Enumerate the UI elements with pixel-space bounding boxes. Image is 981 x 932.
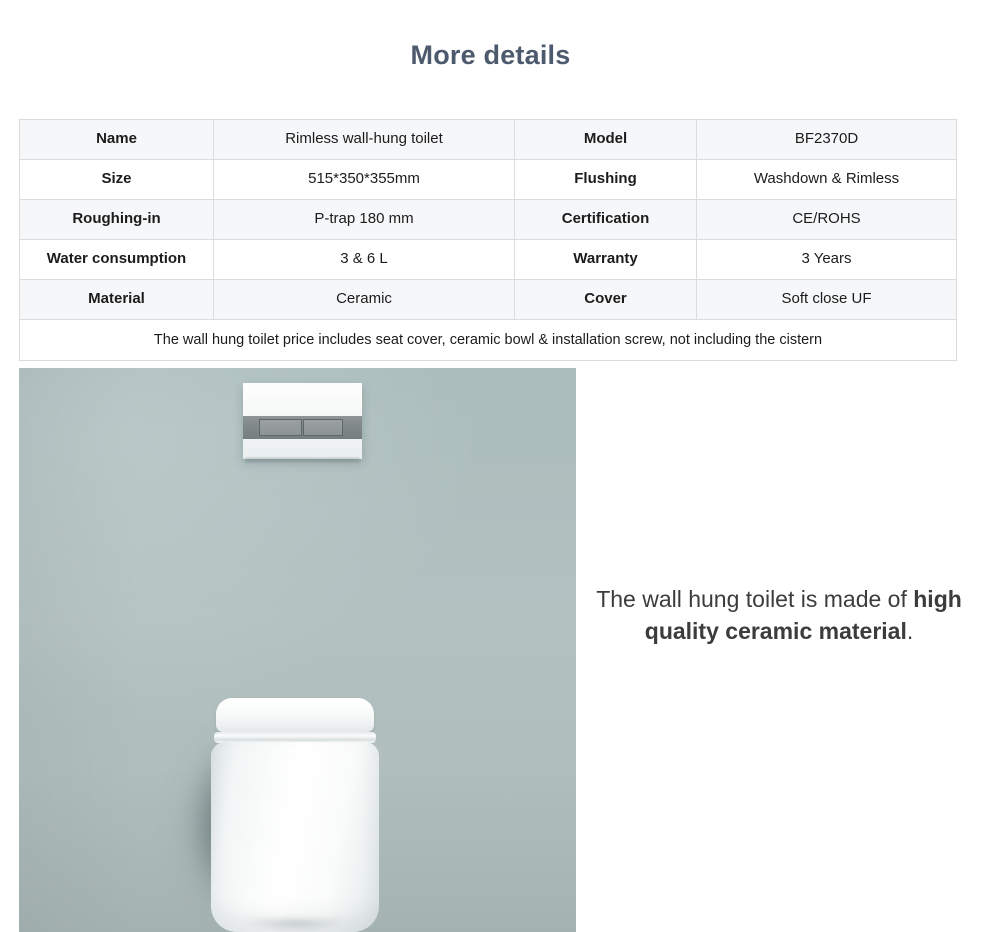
table-row: Material Ceramic Cover Soft close UF xyxy=(20,280,957,320)
spec-label-certification: Certification xyxy=(515,200,697,240)
flush-button-large xyxy=(259,419,302,436)
price-inclusion-note: The wall hung toilet price includes seat… xyxy=(20,320,957,361)
spec-value-flushing: Washdown & Rimless xyxy=(697,160,957,200)
spec-label-size: Size xyxy=(20,160,214,200)
table-row: Name Rimless wall-hung toilet Model BF23… xyxy=(20,120,957,160)
product-caption: The wall hung toilet is made of high qua… xyxy=(596,584,962,647)
spec-value-model: BF2370D xyxy=(697,120,957,160)
table-row: Size 515*350*355mm Flushing Washdown & R… xyxy=(20,160,957,200)
spec-value-roughing-in: P-trap 180 mm xyxy=(214,200,515,240)
specifications-table: Name Rimless wall-hung toilet Model BF23… xyxy=(19,119,957,361)
table-row: Roughing-in P-trap 180 mm Certification … xyxy=(20,200,957,240)
flush-plate-shadow xyxy=(245,458,360,462)
spec-value-certification: CE/ROHS xyxy=(697,200,957,240)
page-title: More details xyxy=(0,40,981,71)
toilet-ceramic-bowl xyxy=(211,742,379,932)
spec-label-model: Model xyxy=(515,120,697,160)
spec-label-warranty: Warranty xyxy=(515,240,697,280)
spec-label-flushing: Flushing xyxy=(515,160,697,200)
spec-label-cover: Cover xyxy=(515,280,697,320)
caption-trail-text: . xyxy=(907,618,913,644)
product-details-page: More details Name Rimless wall-hung toil… xyxy=(0,0,981,932)
spec-value-warranty: 3 Years xyxy=(697,240,957,280)
spec-value-material: Ceramic xyxy=(214,280,515,320)
caption-lead-text: The wall hung toilet is made of xyxy=(596,586,913,612)
product-photo xyxy=(19,368,576,932)
spec-label-water-consumption: Water consumption xyxy=(20,240,214,280)
table-row: Water consumption 3 & 6 L Warranty 3 Yea… xyxy=(20,240,957,280)
flush-button-small xyxy=(303,419,343,436)
table-note-row: The wall hung toilet price includes seat… xyxy=(20,320,957,361)
spec-label-name: Name xyxy=(20,120,214,160)
spec-value-size: 515*350*355mm xyxy=(214,160,515,200)
toilet-seat-lid xyxy=(216,698,374,732)
wall-hung-toilet xyxy=(209,698,381,932)
spec-label-material: Material xyxy=(20,280,214,320)
spec-value-cover: Soft close UF xyxy=(697,280,957,320)
spec-value-name: Rimless wall-hung toilet xyxy=(214,120,515,160)
flush-plate-band xyxy=(243,416,362,439)
spec-value-water-consumption: 3 & 6 L xyxy=(214,240,515,280)
spec-label-roughing-in: Roughing-in xyxy=(20,200,214,240)
dual-flush-plate xyxy=(243,383,362,459)
